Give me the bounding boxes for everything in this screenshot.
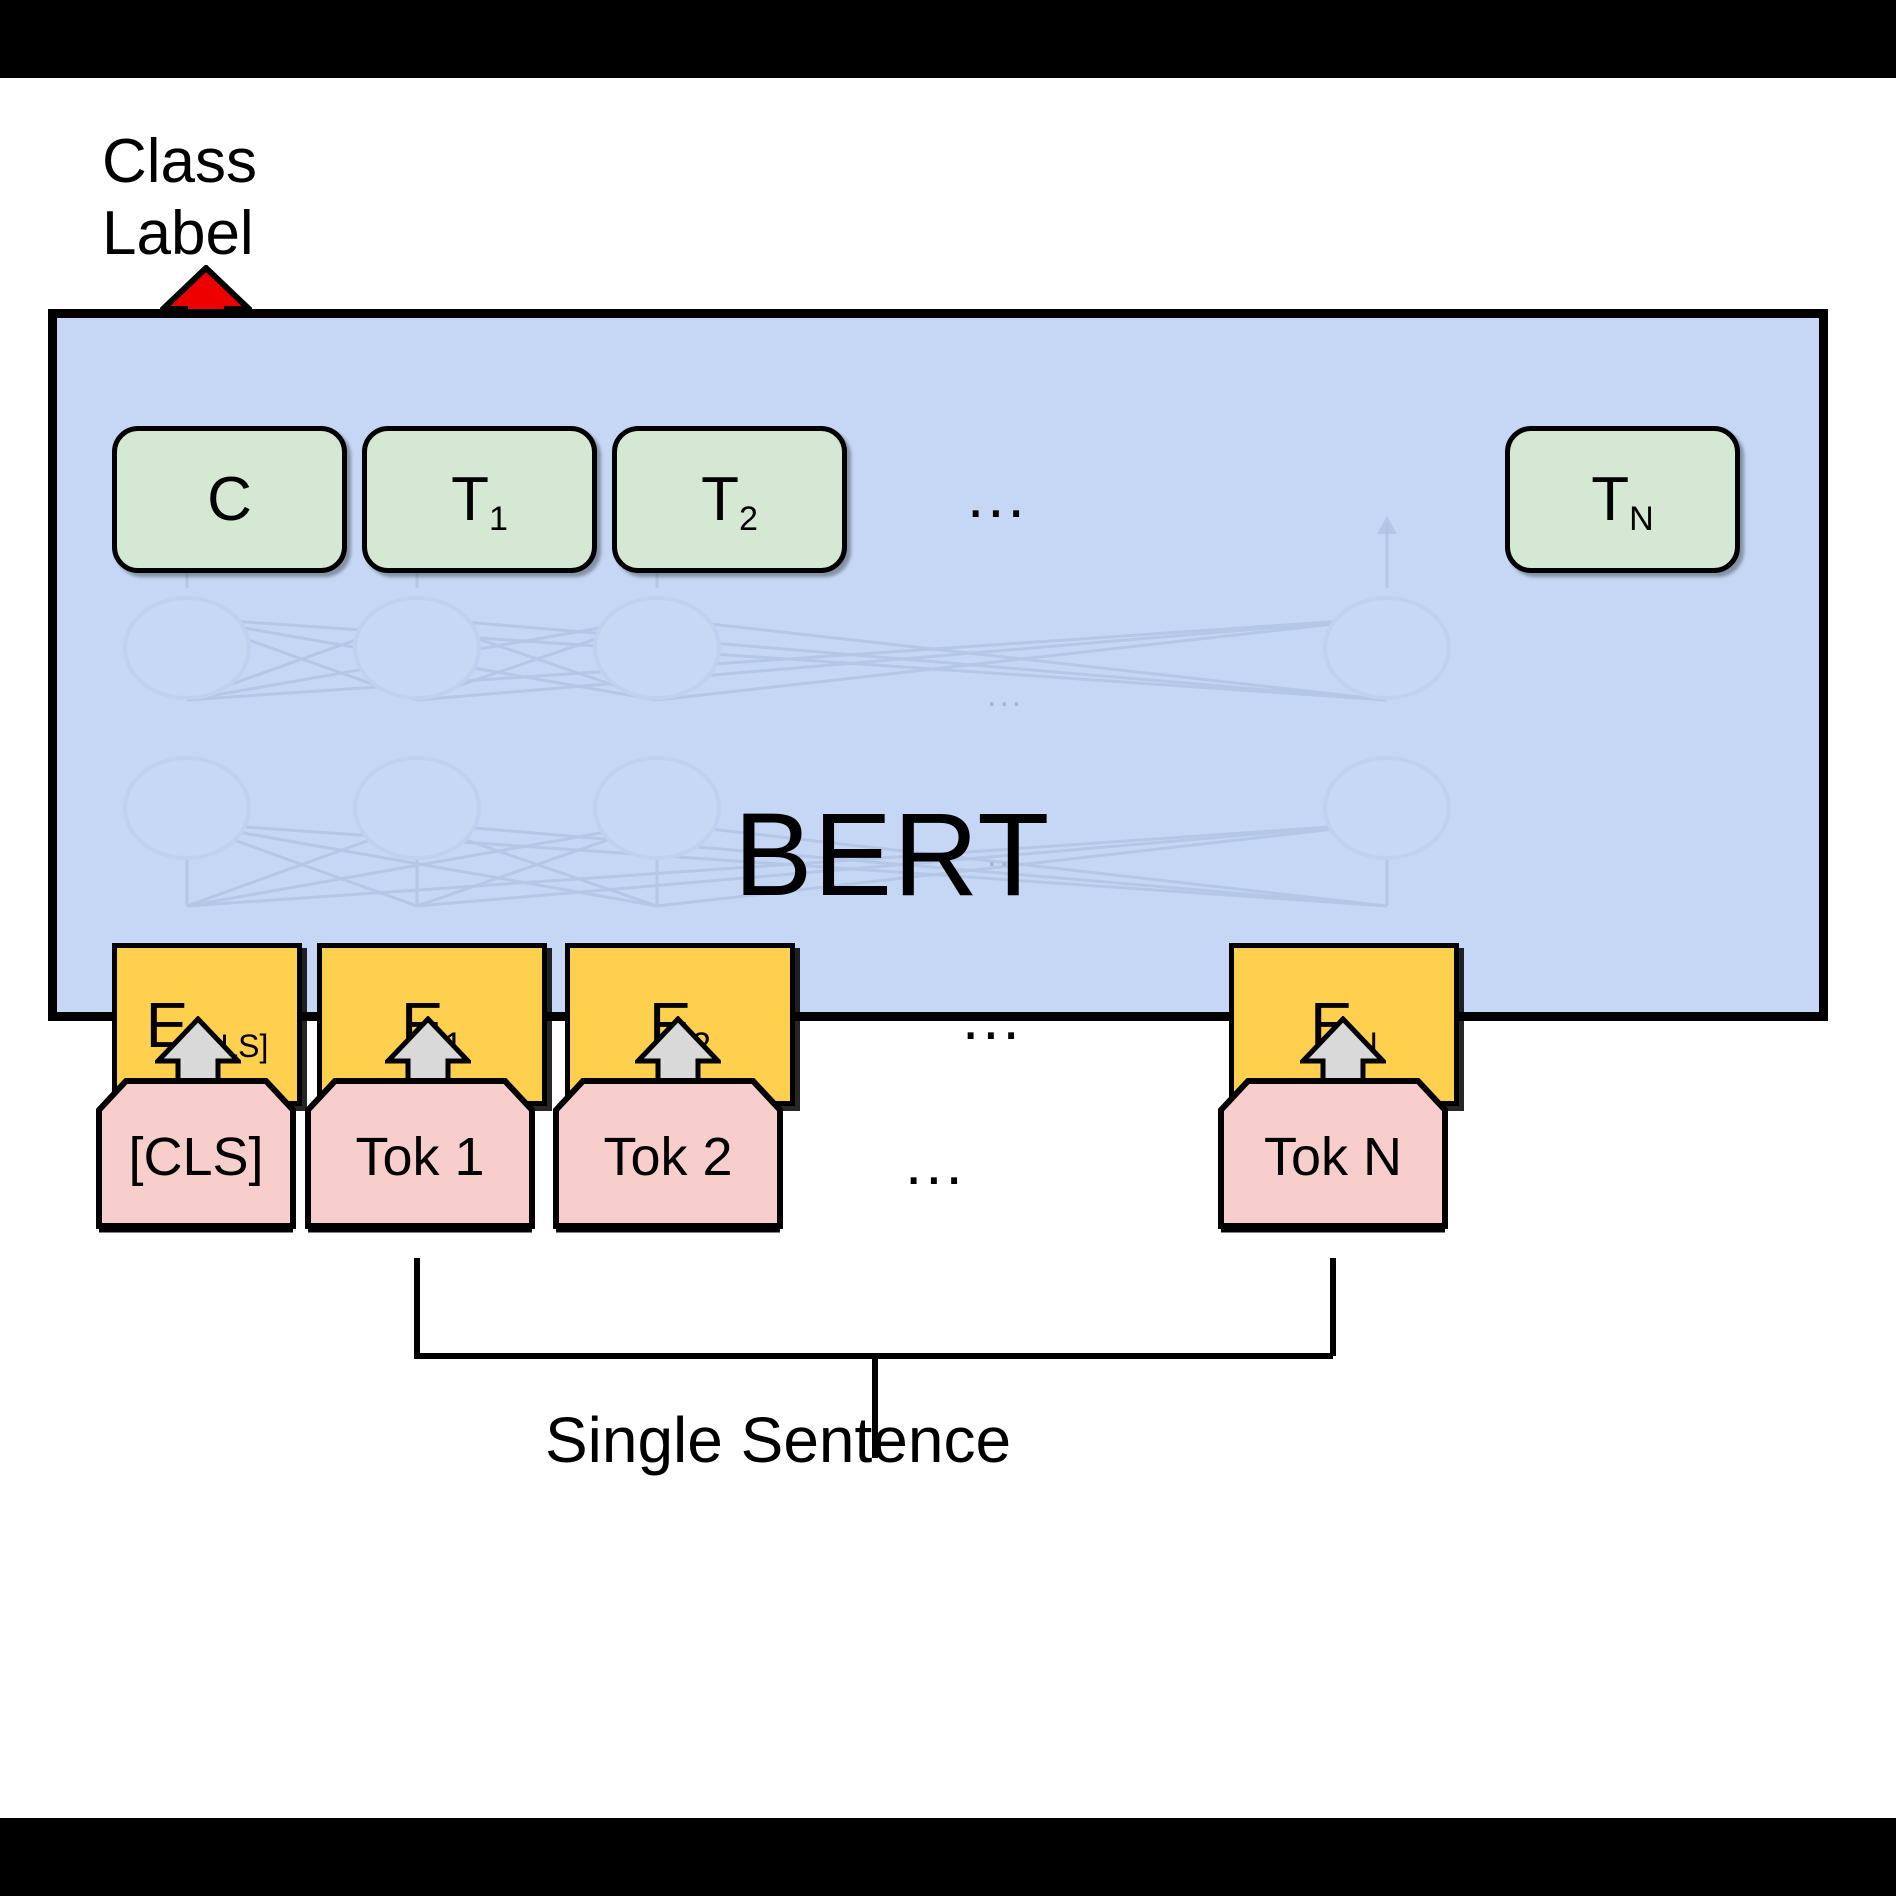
class-label-text: Class Label xyxy=(102,126,257,270)
output-token-box-0: C xyxy=(112,426,347,573)
input-token-box-2: Tok 2 xyxy=(553,1078,783,1236)
output-token-label-1: T1 xyxy=(451,469,508,531)
output-token-box-3: TN xyxy=(1505,426,1740,573)
bert-title: BERT xyxy=(2,796,1782,914)
input-token-box-1: Tok 1 xyxy=(305,1078,535,1236)
output-token-label-3: TN xyxy=(1591,469,1654,531)
input-token-label-1: Tok 1 xyxy=(355,1130,484,1184)
input-token-label-2: Tok 2 xyxy=(603,1130,732,1184)
output-token-label-0: C xyxy=(207,469,252,531)
input-token-label-0: [CLS] xyxy=(128,1130,263,1184)
bert-model-box: ... ... BERT C T1 T2 xyxy=(48,309,1828,1021)
transformer-network-graphic xyxy=(57,318,1837,1030)
figure-canvas: Class Label xyxy=(0,78,1896,1818)
output-token-label-2: T2 xyxy=(701,469,758,531)
input-caption: Single Sentence xyxy=(0,1408,1726,1472)
network-ellipsis-upper: ... xyxy=(987,678,1024,712)
output-token-box-2: T2 xyxy=(612,426,847,573)
input-token-box-3: Tok N xyxy=(1218,1078,1448,1236)
input-token-ellipsis: ... xyxy=(905,1133,966,1195)
input-token-box-0: [CLS] xyxy=(96,1078,296,1236)
embedding-ellipsis: ... xyxy=(962,988,1023,1050)
output-token-box-1: T1 xyxy=(362,426,597,573)
input-token-label-3: Tok N xyxy=(1264,1130,1402,1184)
output-token-ellipsis: ... xyxy=(967,466,1028,528)
figure-stage: Class Label xyxy=(0,0,1896,1896)
